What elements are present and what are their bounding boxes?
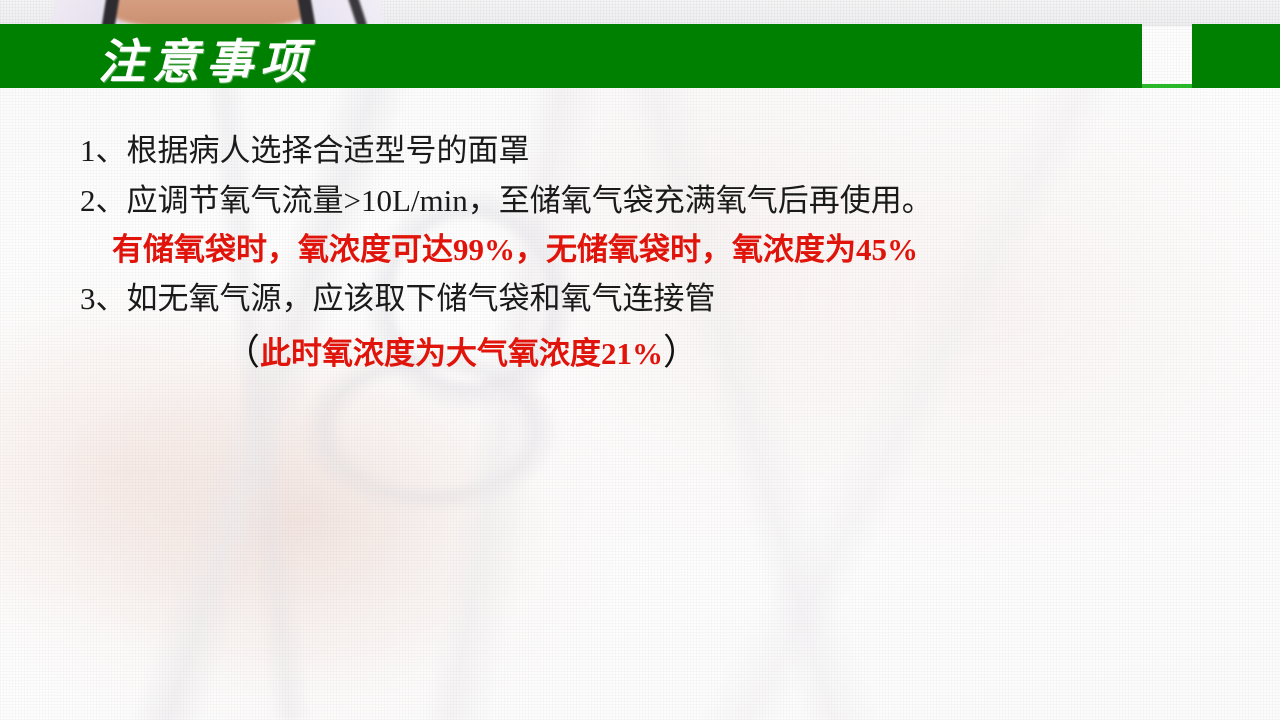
footnote-open-paren: （: [224, 332, 260, 372]
bullet-item-3: 3、如无氧气源，应该取下储气袋和氧气连接管: [0, 274, 1280, 324]
bullet-item-2: 2、应调节氧气流量>10L/min，至储氧气袋充满氧气后再使用。: [0, 176, 1280, 226]
footnote-line: （此时氧浓度为大气氧浓度21%）: [0, 324, 1280, 382]
footnote-close-paren: ）: [663, 332, 699, 372]
title-accent-line: [1142, 84, 1192, 88]
slide-title: 注意事项: [98, 26, 314, 88]
bullet-item-1: 1、根据病人选择合适型号的面罩: [0, 126, 1280, 176]
bullet-item-2-note: 有储氧袋时，氧浓度可达99%，无储氧袋时，氧浓度为45%: [0, 226, 1280, 274]
footnote-inner-text: 此时氧浓度为大气氧浓度21%: [260, 336, 663, 371]
body-text-block: 1、根据病人选择合适型号的面罩 2、应调节氧气流量>10L/min，至储氧气袋充…: [0, 126, 1280, 382]
slide-canvas: 注意事项 1、根据病人选择合适型号的面罩 2、应调节氧气流量>10L/min，至…: [0, 0, 1280, 720]
title-band-right: [1192, 24, 1280, 88]
